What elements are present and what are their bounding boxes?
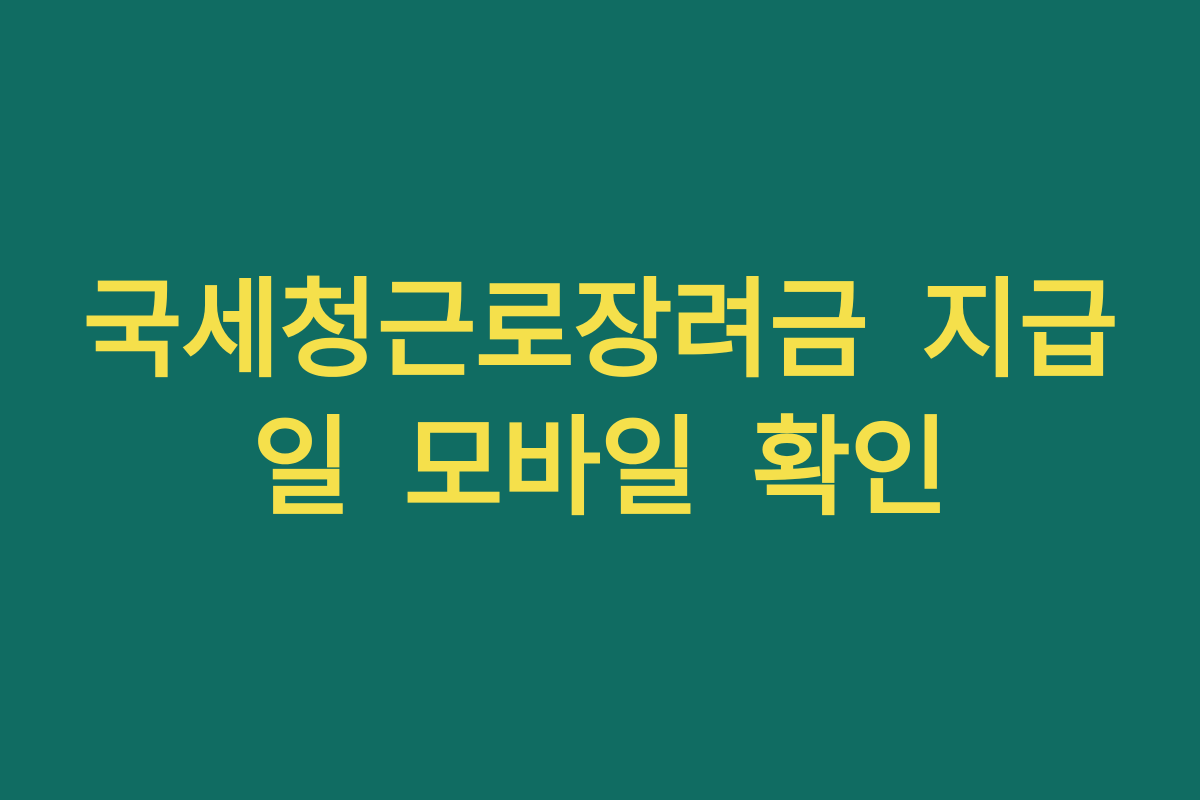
headline-line-1: 국세청근로장려금 지급 [24,262,1176,400]
banner-canvas: 국세청근로장려금 지급 일 모바일 확인 [0,0,1200,800]
page-title: 국세청근로장려금 지급 일 모바일 확인 [0,262,1200,538]
headline-line-2: 일 모바일 확인 [24,400,1176,538]
